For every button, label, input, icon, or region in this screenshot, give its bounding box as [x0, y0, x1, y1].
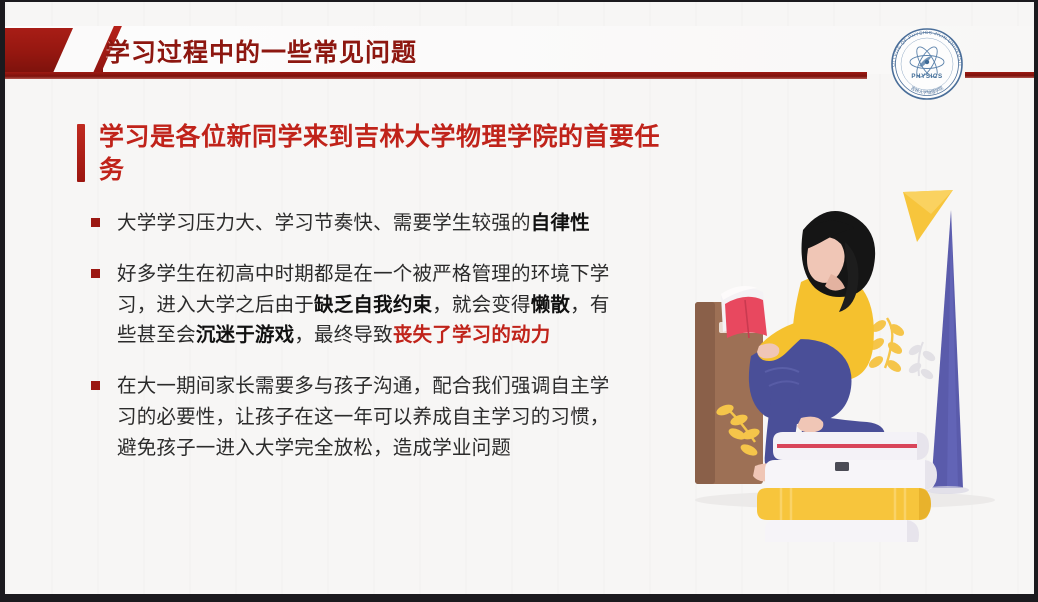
- text-run: 大学学习压力大、学习节奏快、需要学生较强的: [117, 211, 531, 234]
- bullet-text: 好多学生在初高中时期都是在一个被严格管理的环境下学习，进入大学之后由于缺乏自我约…: [117, 259, 611, 351]
- list-item: 好多学生在初高中时期都是在一个被严格管理的环境下学习，进入大学之后由于缺乏自我约…: [91, 259, 611, 351]
- text-run: 缺乏自我约束: [314, 293, 432, 316]
- text-run: 懒散: [531, 293, 570, 316]
- square-bullet-icon: [91, 381, 100, 390]
- illustration-woman-reading-on-book-stack: [655, 170, 1027, 542]
- square-bullet-icon: [91, 218, 100, 227]
- bullet-text: 大学学习压力大、学习节奏快、需要学生较强的自律性: [117, 208, 611, 239]
- header-rule-right: [965, 72, 1034, 78]
- text-run: ，最终导致: [294, 323, 393, 346]
- presentation-slide: 学习过程中的一些常见问题 COLLEGE OF PHYSICS JILIN UN…: [5, 2, 1034, 594]
- slide-header: 学习过程中的一些常见问题 COLLEGE OF PHYSICS JILIN UN…: [5, 2, 1034, 94]
- square-bullet-icon: [91, 269, 100, 278]
- text-run: ，就会变得: [432, 293, 531, 316]
- svg-text:PHYSICS: PHYSICS: [911, 73, 942, 80]
- slide-title: 学习过程中的一些常见问题: [105, 28, 417, 73]
- headline-accent-bar: [77, 124, 85, 182]
- bullet-list: 大学学习压力大、学习节奏快、需要学生较强的自律性 好多学生在初高中时期都是在一个…: [91, 208, 611, 484]
- text-run: 沉迷于游戏: [196, 323, 295, 346]
- header-rule: [5, 72, 867, 79]
- screenshot-frame: 学习过程中的一些常见问题 COLLEGE OF PHYSICS JILIN UN…: [0, 0, 1038, 602]
- list-item: 大学学习压力大、学习节奏快、需要学生较强的自律性: [91, 208, 611, 239]
- text-run: 自律性: [531, 211, 590, 234]
- bullet-text: 在大一期间家长需要多与孩子沟通，配合我们强调自主学习的必要性，让孩子在这一年可以…: [117, 371, 611, 463]
- headline: 学习是各位新同学来到吉林大学物理学院的首要任务: [77, 120, 677, 186]
- headline-text: 学习是各位新同学来到吉林大学物理学院的首要任务: [99, 120, 677, 186]
- list-item: 在大一期间家长需要多与孩子沟通，配合我们强调自主学习的必要性，让孩子在这一年可以…: [91, 371, 611, 463]
- text-run: 在大一期间家长需要多与孩子沟通，配合我们强调自主学习的必要性，让孩子在这一年可以…: [117, 374, 610, 459]
- text-run: 丧失了学习的动力: [393, 323, 551, 346]
- college-seal-logo: COLLEGE OF PHYSICS JILIN UNIVERSITY 吉林大学…: [883, 18, 971, 108]
